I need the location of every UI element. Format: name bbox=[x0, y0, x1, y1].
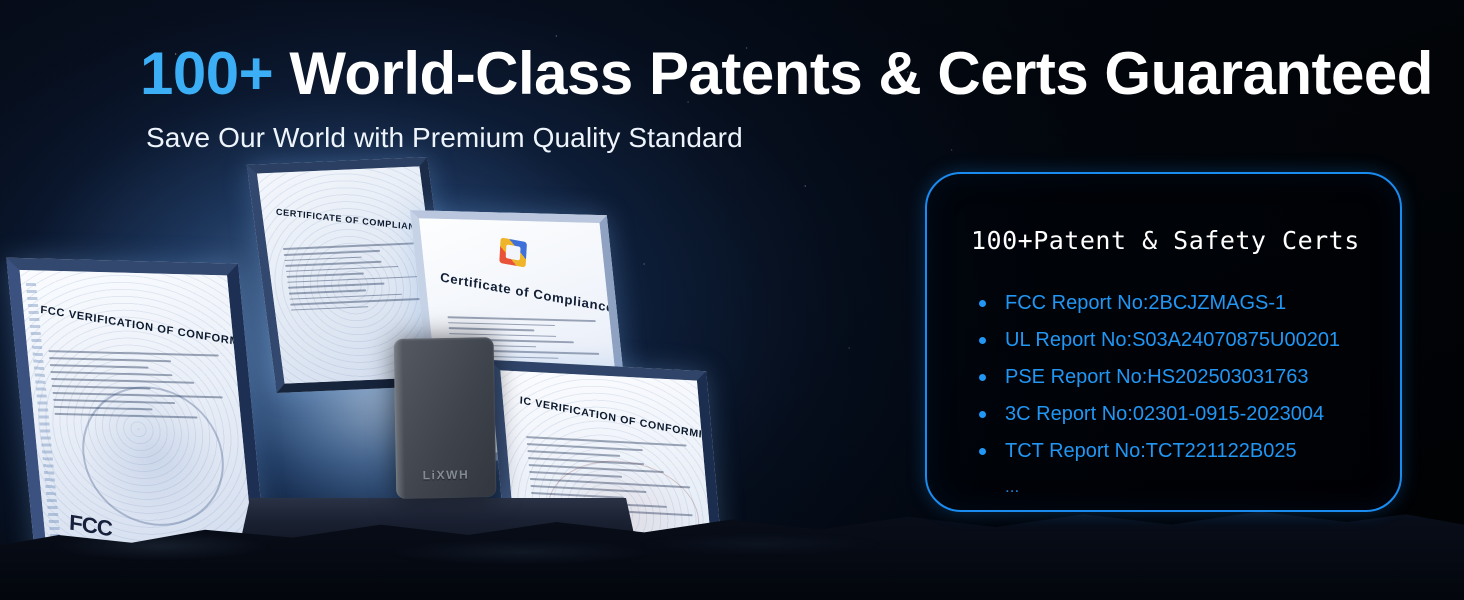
list-item: TCT Report No:TCT221122B025 bbox=[971, 440, 1376, 463]
list-item: PSE Report No:HS202503031763 bbox=[971, 366, 1376, 389]
list-item-label: UL Report No:S03A24070875U00201 bbox=[1005, 329, 1340, 351]
page-title: 100+ World-Class Patents & Certs Guarant… bbox=[140, 44, 1433, 104]
list-item-more: ... bbox=[971, 477, 1376, 497]
power-bank-product: LiXWH bbox=[394, 337, 497, 499]
certificate-report-list: FCC Report No:2BCJZMAGS-1 UL Report No:S… bbox=[971, 292, 1376, 497]
headline-count: 100+ bbox=[140, 40, 273, 107]
certificate-title: Certificate of Compliance bbox=[440, 270, 597, 313]
certificate-text-lines bbox=[283, 243, 425, 315]
certificate-fcc: FCC VERIFICATION OF CONFORMITY FCC bbox=[6, 258, 267, 573]
page-subtitle: Save Our World with Premium Quality Stan… bbox=[146, 122, 1433, 154]
certs-info-panel: 100+Patent & Safety Certs FCC Report No:… bbox=[925, 172, 1402, 512]
bullet-icon bbox=[979, 337, 986, 344]
headline-block: 100+ World-Class Patents & Certs Guarant… bbox=[140, 44, 1433, 154]
headline-text: World-Class Patents & Certs Guaranteed bbox=[273, 40, 1433, 107]
bullet-icon bbox=[979, 300, 986, 307]
bullet-icon bbox=[979, 374, 986, 381]
list-item-label: PSE Report No:HS202503031763 bbox=[1005, 366, 1309, 388]
list-item: FCC Report No:2BCJZMAGS-1 bbox=[971, 292, 1376, 315]
certificate-paper: FCC VERIFICATION OF CONFORMITY FCC bbox=[20, 270, 255, 560]
crest-icon bbox=[499, 237, 527, 267]
panel-title: 100+Patent & Safety Certs bbox=[971, 226, 1360, 255]
list-item-label: 3C Report No:02301-0915-2023004 bbox=[1005, 403, 1324, 425]
promo-banner: CERTIFICATE OF COMPLIANCE FCC VERIFICATI… bbox=[0, 0, 1464, 600]
list-item: UL Report No:S03A24070875U00201 bbox=[971, 329, 1376, 352]
list-item-label: FCC Report No:2BCJZMAGS-1 bbox=[1005, 292, 1286, 314]
bullet-icon bbox=[979, 411, 986, 418]
list-item: 3C Report No:02301-0915-2023004 bbox=[971, 403, 1376, 426]
bullet-icon bbox=[979, 448, 986, 455]
list-item-label: TCT Report No:TCT221122B025 bbox=[1005, 440, 1297, 462]
brand-logo: LiXWH bbox=[396, 467, 496, 483]
